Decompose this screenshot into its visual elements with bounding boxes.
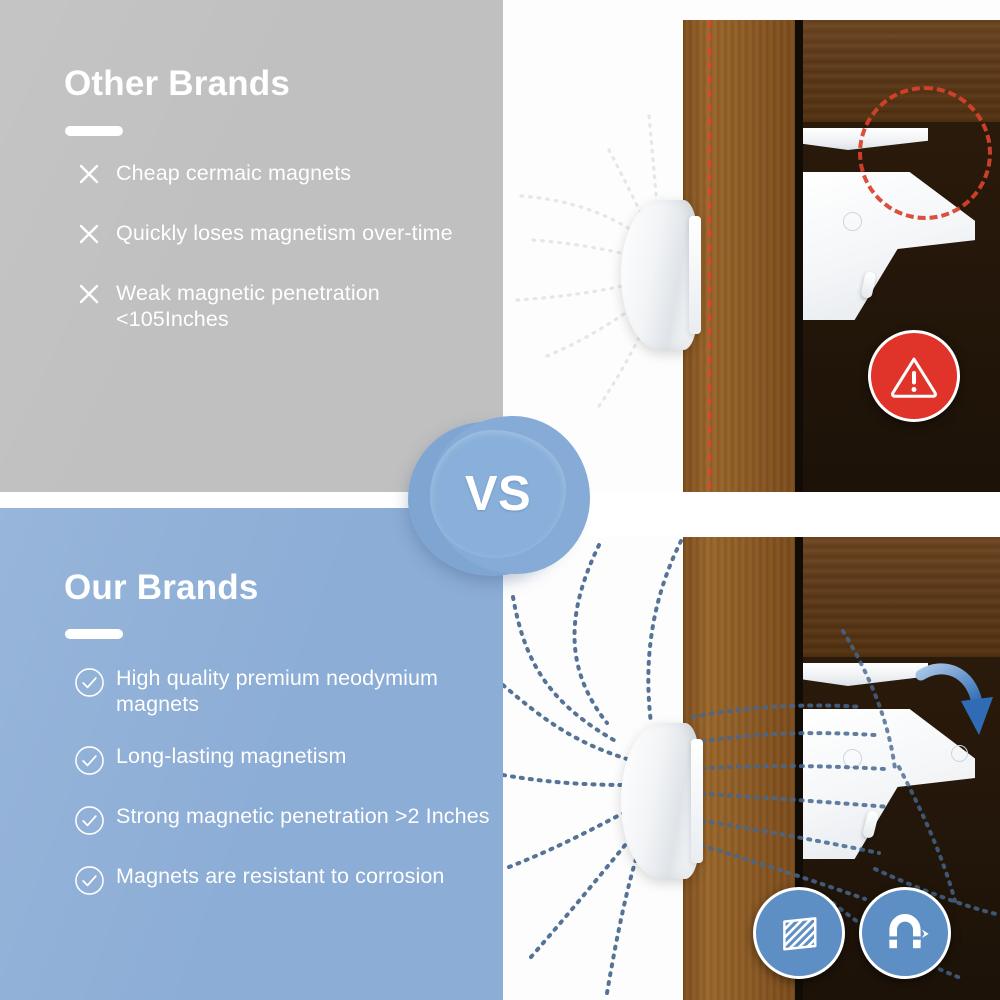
x-icon (62, 220, 116, 246)
door-seam-line (708, 20, 711, 492)
our-brands-title: Our Brands (64, 568, 259, 608)
vs-badge-label: VS (430, 430, 566, 558)
our-brands-feature-list: High quality premium neodymium magnets L… (62, 665, 492, 923)
motion-arrow (913, 655, 993, 741)
our-brands-title-underline (65, 629, 123, 639)
our-brands-photo (503, 537, 1000, 1000)
list-item: Cheap cermaic magnets (62, 160, 492, 194)
check-circle-icon (62, 863, 116, 896)
list-item-label: Long-lasting magnetism (116, 743, 346, 769)
x-icon (62, 280, 116, 306)
other-brands-feature-list: Cheap cermaic magnets Quickly loses magn… (62, 160, 492, 358)
magnetic-key (621, 723, 699, 879)
list-item-label: Cheap cermaic magnets (116, 160, 351, 186)
magnetic-key-face (691, 739, 703, 863)
material-panel-icon (753, 887, 845, 979)
warning-triangle-icon (868, 330, 960, 422)
vs-badge: VS (404, 414, 596, 586)
other-brands-title: Other Brands (64, 64, 290, 104)
list-item: Weak magnetic penetration <105Inches (62, 280, 492, 332)
list-item-label: Strong magnetic penetration >2 Inches (116, 803, 490, 829)
list-item: Magnets are resistant to corrosion (62, 863, 492, 897)
list-item-label: High quality premium neodymium magnets (116, 665, 492, 717)
horseshoe-magnet-icon (859, 887, 951, 979)
check-circle-icon (62, 665, 116, 698)
magnetic-key-face (689, 216, 701, 334)
lock-screw-hole (843, 212, 862, 231)
list-item: Quickly loses magnetism over-time (62, 220, 492, 254)
list-item-label: Magnets are resistant to corrosion (116, 863, 444, 889)
door-gap (795, 20, 803, 492)
list-item: Long-lasting magnetism (62, 743, 492, 777)
x-icon (62, 160, 116, 186)
magnetic-key (621, 200, 697, 350)
check-circle-icon (62, 803, 116, 836)
check-circle-icon (62, 743, 116, 776)
list-item: Strong magnetic penetration >2 Inches (62, 803, 492, 837)
list-item-label: Quickly loses magnetism over-time (116, 220, 453, 246)
list-item-label: Weak magnetic penetration <105Inches (116, 280, 492, 332)
list-item: High quality premium neodymium magnets (62, 665, 492, 717)
highlight-circle (858, 86, 992, 220)
comparison-infographic: Other Brands Cheap cermaic magnets (0, 0, 1000, 1000)
other-brands-title-underline (65, 126, 123, 136)
